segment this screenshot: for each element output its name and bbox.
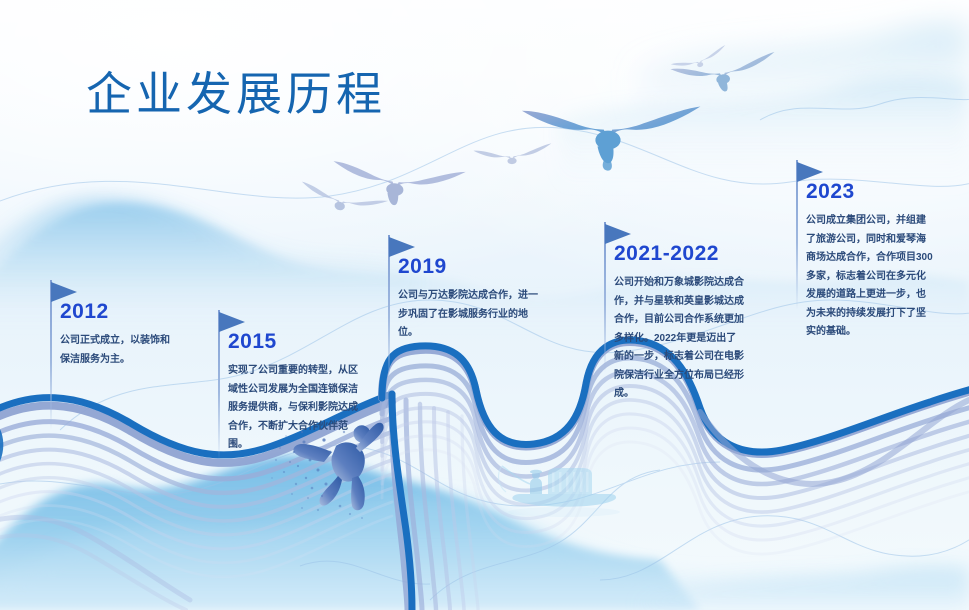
flag-pole <box>796 160 798 310</box>
poster-canvas: 企业发展历程 2012 公司正式成立，以装饰和保洁服务为主。 2015 实现了公… <box>0 0 969 610</box>
milestone-description: 实现了公司重要的转型，从区域性公司发展为全国连锁保洁服务提供商，与保利影院达成合… <box>228 362 358 455</box>
milestone-description: 公司开始和万象城影院达成合作，并与星轶和英皇影城达成合作，目前公司合作系统更加多… <box>614 274 746 404</box>
flag-pole <box>604 222 606 372</box>
milestone-description: 公司成立集团公司，并组建了旅游公司，同时和爱琴海商场达成合作，合作项目300多家… <box>806 212 934 342</box>
milestone-description: 公司正式成立，以装饰和保洁服务为主。 <box>60 332 178 369</box>
seagull-icon <box>330 158 466 212</box>
flag-pole <box>388 235 390 385</box>
milestone-year: 2019 <box>398 255 447 279</box>
seagull-icon <box>297 180 388 222</box>
flag-icon <box>219 312 245 332</box>
seagull-icon <box>670 45 729 75</box>
milestone-year: 2015 <box>228 330 277 354</box>
flag-pole <box>50 280 52 430</box>
flag-pole <box>218 310 220 460</box>
flag-icon <box>605 224 631 244</box>
flag-icon <box>389 237 415 257</box>
milestone-year: 2012 <box>60 300 109 324</box>
seagull-icon <box>670 52 779 99</box>
flag-icon <box>797 162 823 182</box>
milestone-description: 公司与万达影院达成合作，进一步巩固了在影城服务行业的地位。 <box>398 287 538 343</box>
page-title: 企业发展历程 <box>86 58 386 124</box>
seagull-icon <box>522 107 701 171</box>
seagull-icon <box>473 143 552 166</box>
milestone-year: 2023 <box>806 180 855 204</box>
flag-icon <box>51 282 77 302</box>
milestone-year: 2021-2022 <box>614 242 719 266</box>
